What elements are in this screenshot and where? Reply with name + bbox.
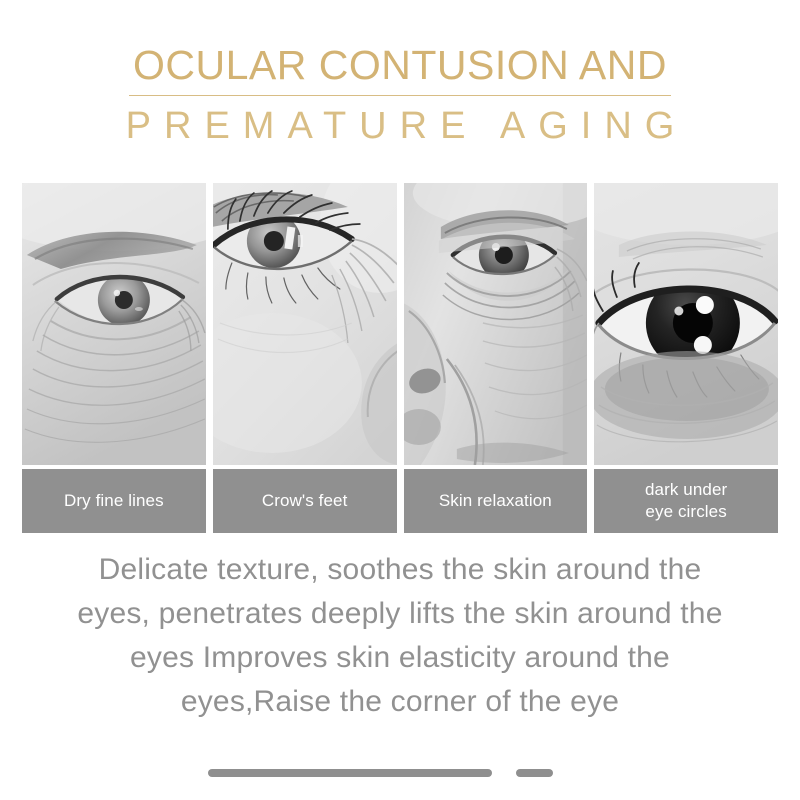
- page-title-secondary: PREMATURE AGING: [0, 105, 800, 149]
- description-line-3: eyes Improves skin elasticity around the: [34, 636, 766, 680]
- concern-image-dry-fine-lines: [22, 183, 206, 465]
- concern-label-text-wrapped: dark under eye circles: [645, 479, 727, 523]
- description-line-2: eyes, penetrates deeply lifts the skin a…: [34, 592, 766, 636]
- concern-label-text-line1: dark under: [645, 480, 727, 499]
- eye-closeup-dry-fine-lines-icon: [22, 183, 206, 465]
- concern-label-text: Crow's feet: [262, 490, 348, 512]
- description-line-4: eyes,Raise the corner of the eye: [34, 680, 766, 724]
- concern-label-text-line2: eye circles: [645, 502, 726, 521]
- eye-closeup-dark-circles-icon: [594, 183, 778, 465]
- product-description: Delicate texture, soothes the skin aroun…: [34, 548, 766, 724]
- page-title-primary: OCULAR CONTUSION AND: [129, 44, 671, 96]
- concern-image-dark-circles: [594, 183, 778, 465]
- concern-label-dark-circles: dark under eye circles: [594, 469, 778, 533]
- concern-label-crows-feet: Crow's feet: [213, 469, 397, 533]
- concern-image-crows-feet: [213, 183, 397, 465]
- page-header: OCULAR CONTUSION AND PREMATURE AGING: [0, 0, 800, 149]
- concern-label-dry-fine-lines: Dry fine lines: [22, 469, 206, 533]
- concern-label-row: Dry fine lines Crow's feet Skin relaxati…: [22, 469, 778, 533]
- eye-closeup-crows-feet-icon: [213, 183, 397, 465]
- description-line-1: Delicate texture, soothes the skin aroun…: [34, 548, 766, 592]
- concern-image-gallery: [22, 183, 778, 465]
- scroll-indicator-short[interactable]: [516, 769, 553, 777]
- concern-label-text: Dry fine lines: [64, 490, 164, 512]
- face-closeup-skin-relaxation-icon: [404, 183, 588, 465]
- concern-label-skin-relaxation: Skin relaxation: [404, 469, 588, 533]
- concern-label-text: Skin relaxation: [439, 490, 552, 512]
- bottom-indicator-row: [0, 768, 800, 780]
- scroll-indicator-long[interactable]: [208, 769, 492, 777]
- concern-image-skin-relaxation: [404, 183, 588, 465]
